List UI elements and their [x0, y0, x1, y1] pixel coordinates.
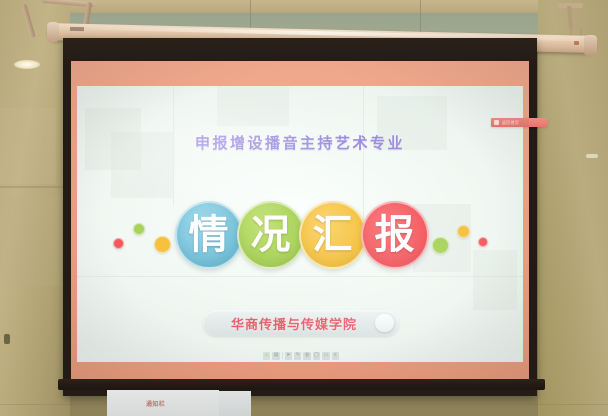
screen-bottom-weight-bar	[58, 379, 545, 390]
deco-dot-right-yellow	[457, 225, 470, 238]
deco-dot-left-green	[133, 223, 145, 235]
roller-indicator	[574, 41, 579, 45]
slide-subtitle-pill: 华商传播与传媒学院	[203, 310, 399, 336]
heading-char: 情	[189, 215, 229, 255]
heading-char: 报	[375, 215, 415, 255]
home-icon[interactable]: ⌂	[263, 352, 270, 360]
heading-char: 况	[251, 215, 291, 255]
floor-line	[0, 404, 608, 405]
roller-end-cap	[584, 35, 597, 56]
slides-grid-icon[interactable]: ▤	[272, 352, 279, 360]
badge-square-icon	[494, 120, 499, 125]
wall-mark	[586, 154, 598, 158]
heading-circle-4: 报	[361, 201, 429, 269]
slide-corner-badge[interactable]: 返回首页	[491, 118, 548, 127]
zoom-icon[interactable]: ◯	[313, 352, 320, 360]
deco-dot-left-red	[113, 238, 124, 249]
heading-char: 汇	[313, 215, 353, 255]
slide-title: 申报增设播音主持艺术专业	[77, 132, 523, 153]
wall-panel	[0, 196, 62, 286]
pen-icon[interactable]: ✎	[294, 352, 301, 360]
heading-circle-1: 情	[175, 201, 243, 269]
classroom-projection-scene: 返回首页 申报增设播音主持艺术专业 情 况 汇 报 华商传播与传媒学院 ⌂ ▤ …	[0, 0, 608, 416]
notice-board-text: 通知栏	[146, 399, 165, 408]
note-icon[interactable]: ▭	[322, 352, 329, 360]
slide-subtitle: 华商传播与传媒学院	[231, 314, 357, 333]
bg-decoration	[217, 86, 289, 126]
deco-dot-right-green	[432, 237, 449, 254]
wall-socket	[4, 334, 10, 344]
toolbar-separator	[282, 352, 283, 359]
notice-board-panel	[219, 391, 251, 416]
right-wall	[538, 0, 608, 416]
heading-circle-2: 况	[237, 201, 305, 269]
pointer-icon[interactable]: ➤	[285, 352, 292, 360]
wall-panel	[0, 108, 56, 184]
pill-knob-decoration	[375, 314, 394, 332]
wall-seam-line	[0, 186, 70, 188]
slide-heading-group: 情 况 汇 报	[77, 192, 523, 278]
ppt-slideshow-toolbar[interactable]: ⌂ ▤ ➤ ✎ ◍ ◯ ▭ ≡	[263, 350, 339, 361]
badge-label: 返回首页	[502, 120, 519, 126]
roller-brand-label	[70, 27, 84, 31]
deco-dot-left-yellow	[154, 236, 171, 253]
eraser-icon[interactable]: ◍	[303, 352, 310, 360]
menu-icon[interactable]: ≡	[332, 352, 339, 360]
roller-end-cap	[47, 22, 59, 42]
heading-circle-3: 汇	[299, 201, 367, 269]
deco-dot-right-red	[478, 237, 488, 247]
wall-light-reflection	[14, 60, 40, 69]
